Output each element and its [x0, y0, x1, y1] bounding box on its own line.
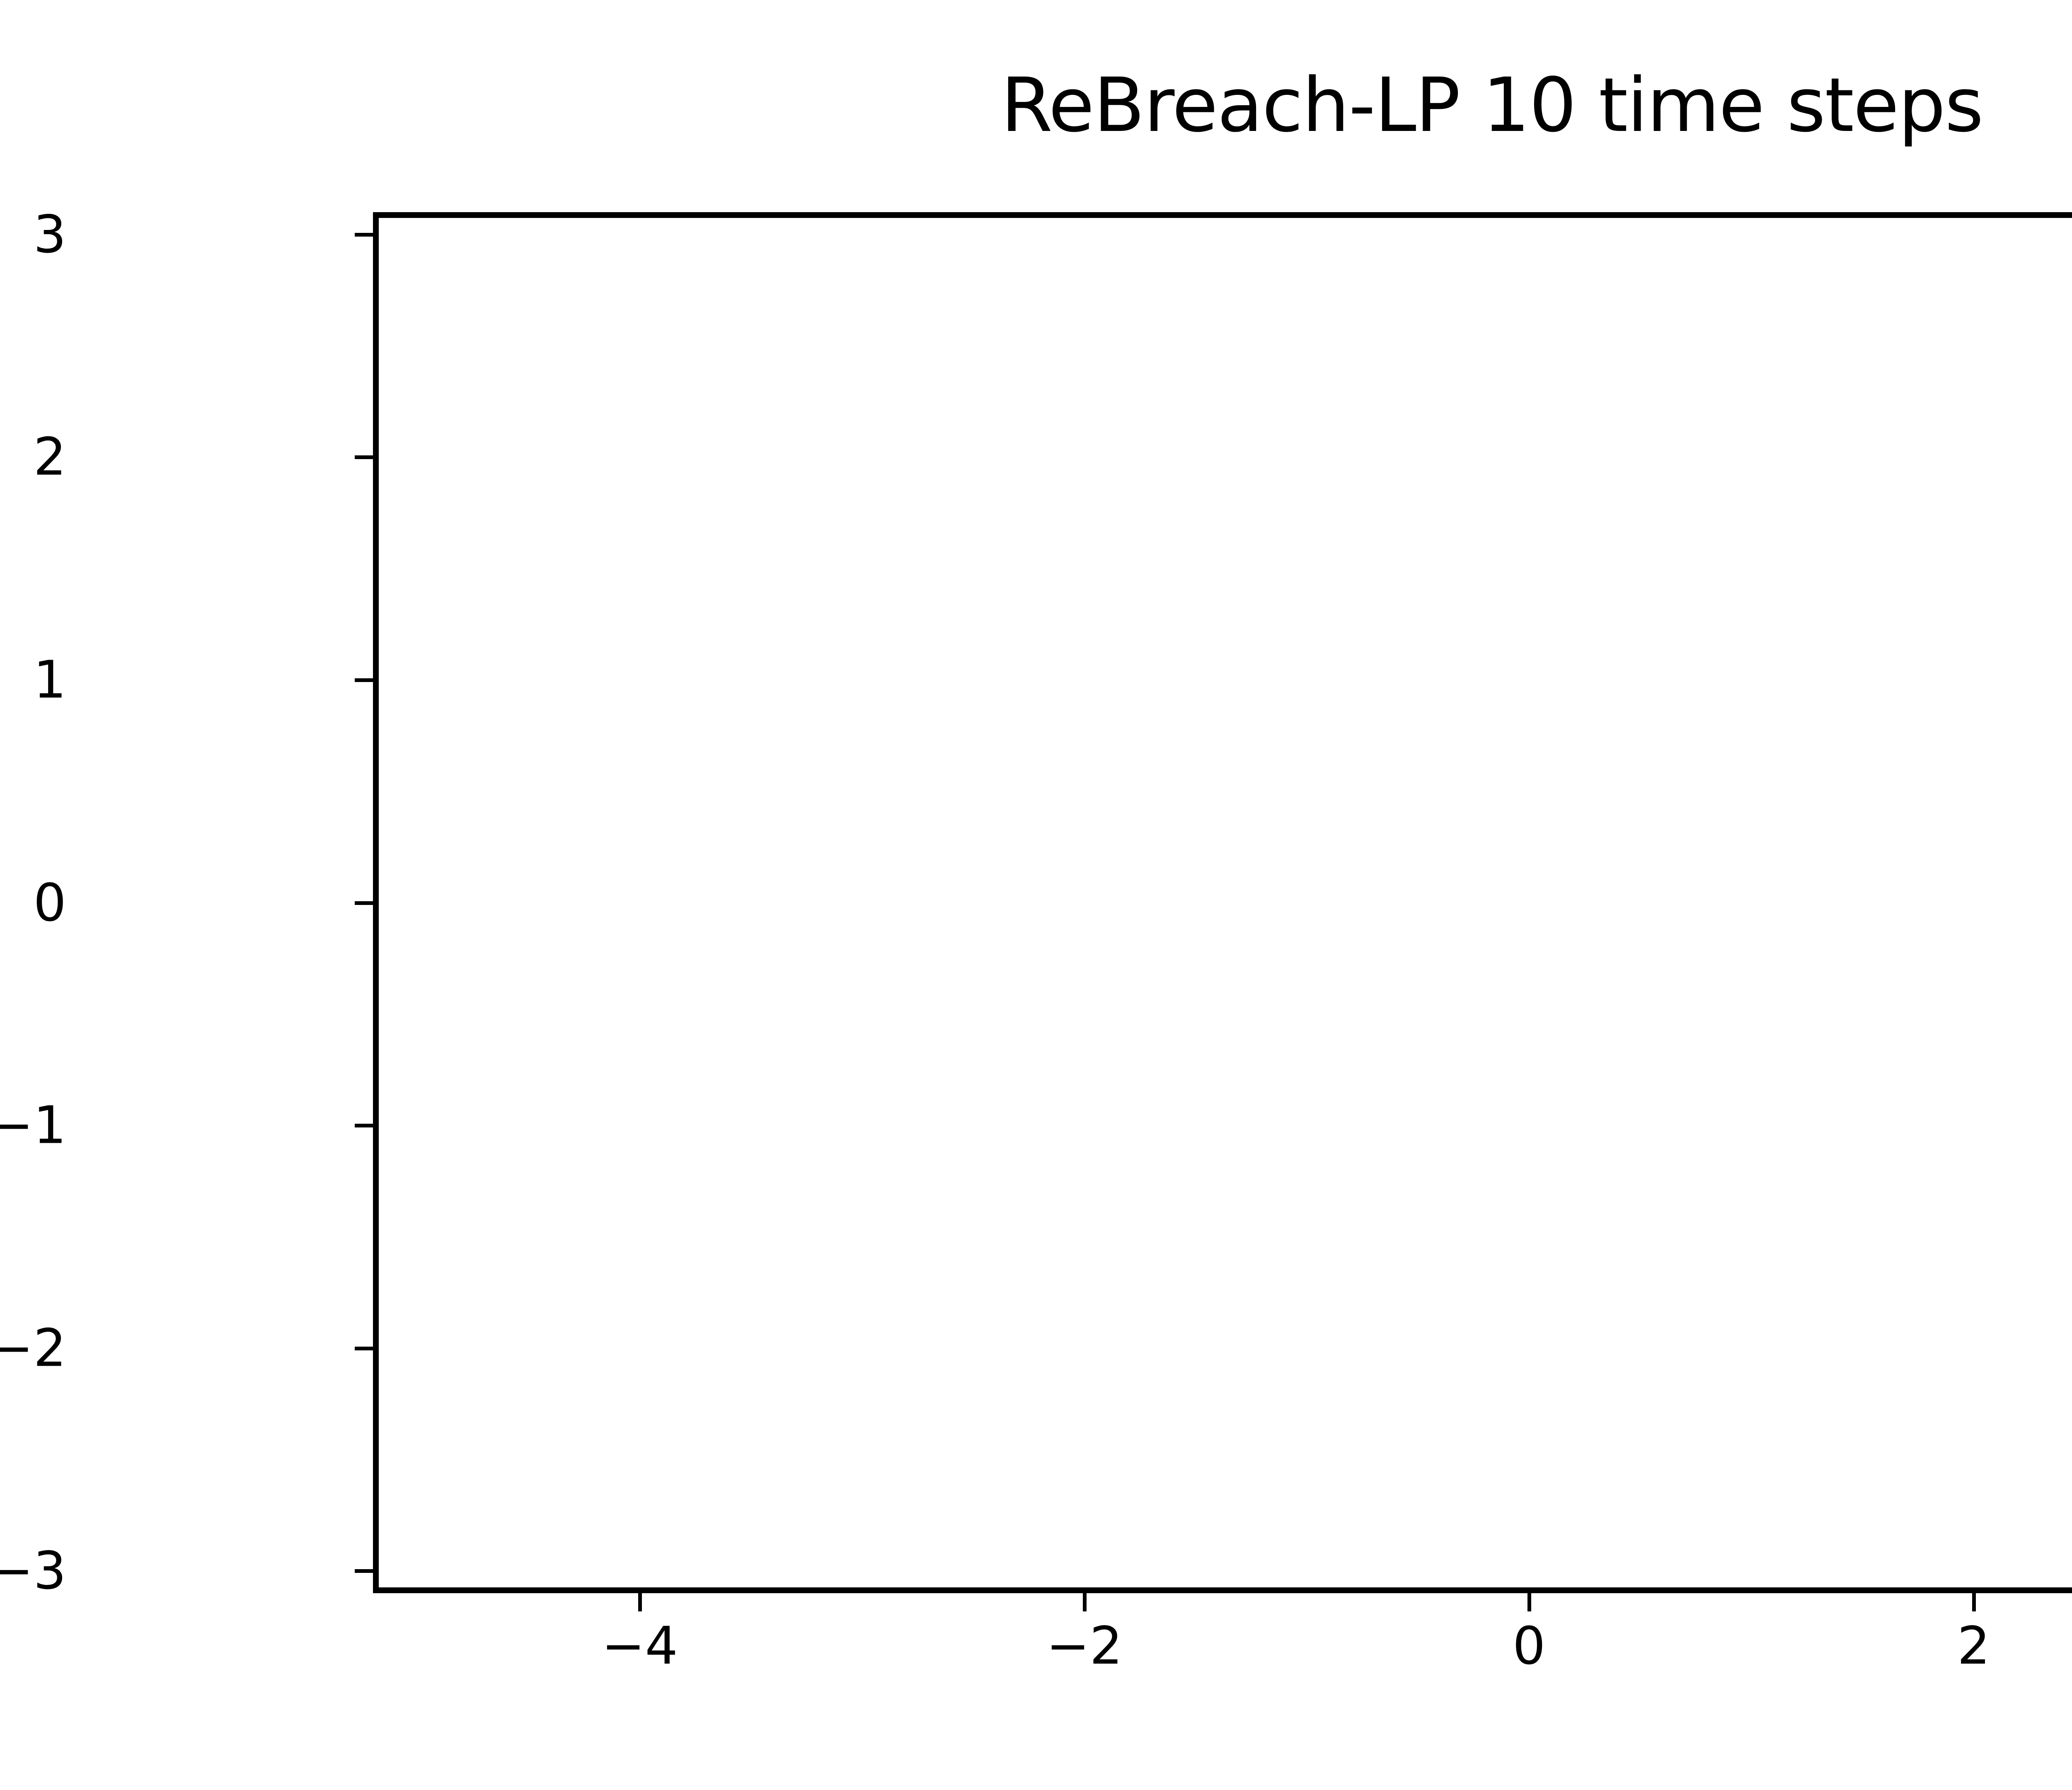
x-axis-tick-label: −4 [602, 1616, 678, 1676]
y-axis-tick [355, 455, 373, 459]
y-axis-tick [355, 678, 373, 682]
x-axis-tick-label: 2 [1957, 1616, 1990, 1676]
y-axis-tick [355, 1347, 373, 1350]
x-axis-tick [1083, 1593, 1087, 1611]
axes-frame [373, 212, 2072, 1593]
x-axis-tick [1527, 1593, 1531, 1611]
x-axis-tick [638, 1593, 642, 1611]
figure-canvas: ReBreach-LP 10 time steps −4−20243210−1−… [0, 0, 2072, 1790]
x-axis-tick-label: 0 [1513, 1616, 1546, 1676]
x-axis-tick [1972, 1593, 1976, 1611]
y-axis-tick-label: 1 [33, 650, 66, 710]
y-axis-tick-label: 3 [33, 204, 66, 264]
y-axis-tick [355, 1124, 373, 1127]
y-axis-tick-label: 0 [33, 873, 66, 933]
y-axis-tick [355, 901, 373, 905]
y-axis-tick-label: −3 [0, 1541, 66, 1601]
y-axis-tick-label: −1 [0, 1096, 66, 1156]
y-axis-tick [355, 233, 373, 237]
y-axis-tick-label: −2 [0, 1318, 66, 1378]
y-axis-tick-label: 2 [33, 427, 66, 487]
page-title: ReBreach-LP 10 time steps [0, 62, 2072, 149]
x-axis-tick-label: −2 [1046, 1616, 1123, 1676]
y-axis-tick [355, 1569, 373, 1573]
